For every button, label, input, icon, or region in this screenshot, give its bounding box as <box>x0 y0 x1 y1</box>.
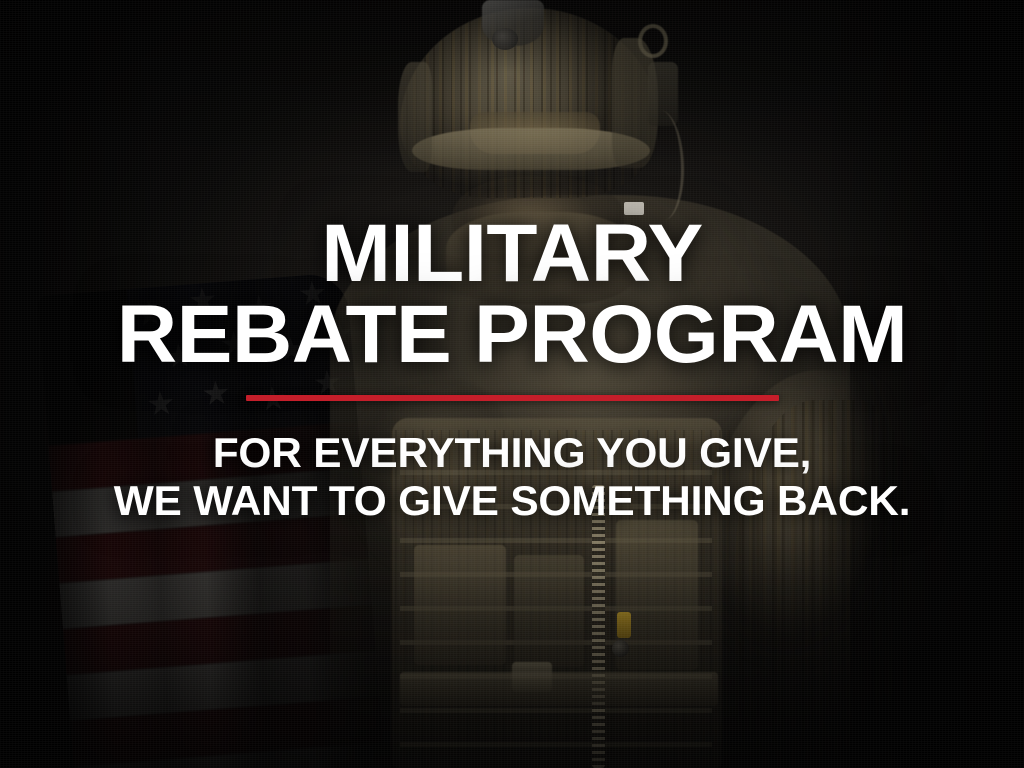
helmet-rail-ring <box>638 24 668 58</box>
helmet-marker-tag <box>624 202 644 215</box>
tourniquet-tab <box>617 612 631 638</box>
gear-pouch <box>514 555 584 667</box>
military-rebate-poster: MILITARY REBATE PROGRAM FOR EVERYTHING Y… <box>0 0 1024 768</box>
nvg-mount-knob <box>492 28 518 50</box>
gear-pouch <box>414 545 506 665</box>
belt-buckle <box>512 662 552 692</box>
face-gaiter <box>446 212 636 304</box>
gear-knob <box>612 640 629 657</box>
carrier-zipper <box>592 485 605 768</box>
helmet-left-rail <box>398 62 432 172</box>
camo-pattern-arm <box>735 400 910 768</box>
cummerbund-belt <box>400 672 718 706</box>
background-photo <box>0 0 1024 768</box>
